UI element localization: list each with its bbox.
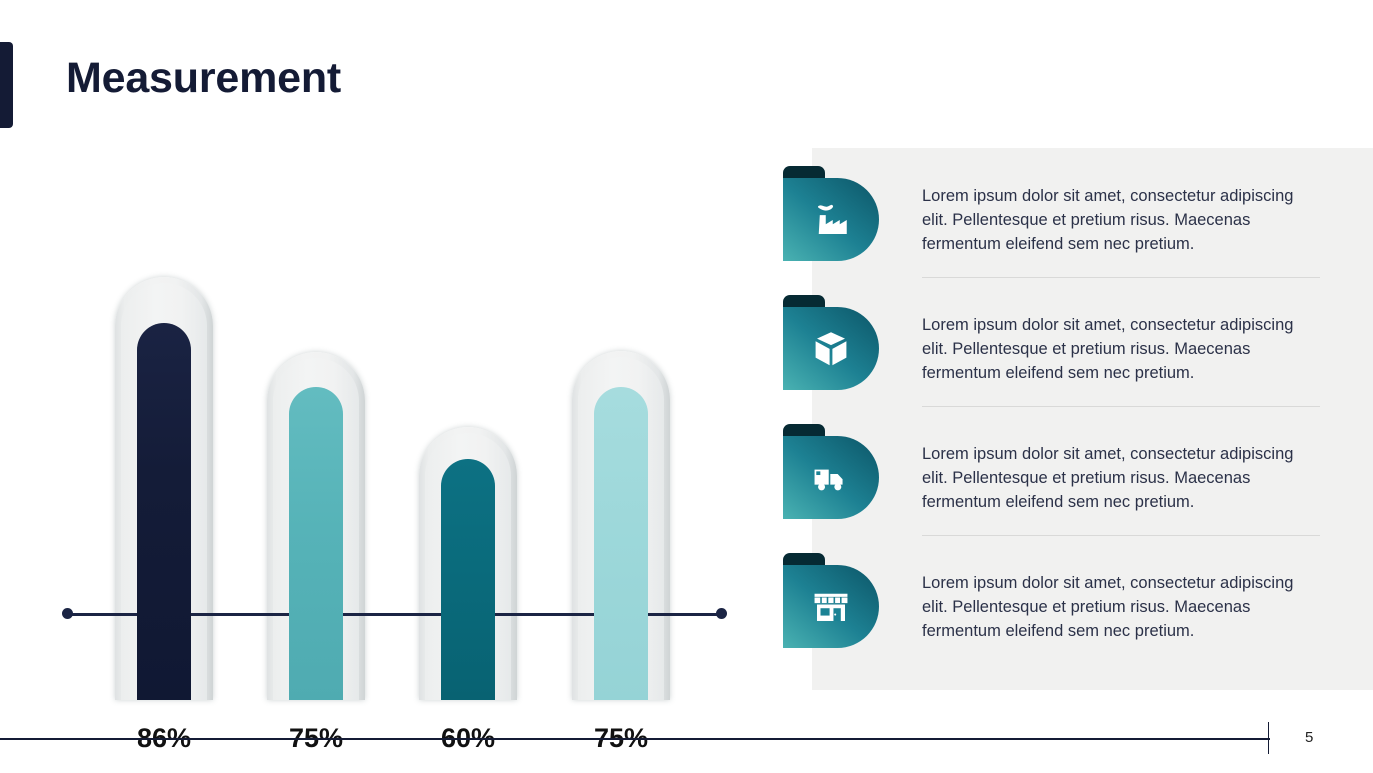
list-item[interactable]: Lorem ipsum dolor sit amet, consectetur …: [812, 148, 1373, 277]
bar-group-3[interactable]: 60%: [419, 87, 517, 700]
package-icon: [810, 328, 852, 370]
axis-dot-right: [716, 608, 727, 619]
list-item[interactable]: Lorem ipsum dolor sit amet, consectetur …: [812, 535, 1373, 664]
axis-dot-left: [62, 608, 73, 619]
item-divider: [922, 535, 1320, 536]
footer-tick: [1268, 722, 1269, 754]
item-divider: [922, 406, 1320, 407]
item-divider: [922, 277, 1320, 278]
item-description: Lorem ipsum dolor sit amet, consectetur …: [922, 571, 1322, 644]
bar-group-4[interactable]: 75%: [572, 87, 670, 700]
bar-group-1[interactable]: 86%: [115, 87, 213, 700]
bar-fill-3: [441, 459, 495, 700]
factory-badge[interactable]: [783, 178, 879, 261]
delivery-truck-icon: [810, 457, 852, 499]
bar-chart: 86% 75% 60%: [0, 0, 760, 700]
package-badge[interactable]: [783, 307, 879, 390]
factory-icon: [810, 199, 852, 241]
details-panel: Lorem ipsum dolor sit amet, consectetur …: [812, 148, 1373, 690]
delivery-truck-badge[interactable]: [783, 436, 879, 519]
bar-fill-2: [289, 387, 343, 700]
bar-fill-4: [594, 387, 648, 700]
bar-group-2[interactable]: 75%: [267, 87, 365, 700]
store-badge[interactable]: [783, 565, 879, 648]
slide-measurement: { "slide": { "title": "Measurement", "pa…: [0, 0, 1373, 773]
item-description: Lorem ipsum dolor sit amet, consectetur …: [922, 313, 1322, 386]
details-list: Lorem ipsum dolor sit amet, consectetur …: [812, 148, 1373, 664]
store-icon: [810, 586, 852, 628]
list-item[interactable]: Lorem ipsum dolor sit amet, consectetur …: [812, 406, 1373, 535]
item-description: Lorem ipsum dolor sit amet, consectetur …: [922, 184, 1322, 257]
list-item[interactable]: Lorem ipsum dolor sit amet, consectetur …: [812, 277, 1373, 406]
item-description: Lorem ipsum dolor sit amet, consectetur …: [922, 442, 1322, 515]
page-number: 5: [1305, 729, 1313, 746]
bar-fill-1: [137, 323, 191, 700]
footer-rule: [0, 738, 1270, 740]
